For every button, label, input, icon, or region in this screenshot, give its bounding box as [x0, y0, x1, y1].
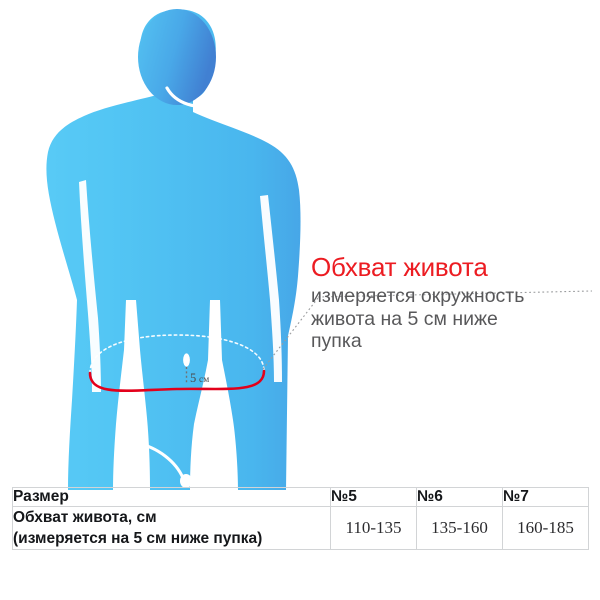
- header-cell-size-label: Размер: [13, 488, 331, 507]
- offset-unit: см: [199, 375, 209, 385]
- callout: Обхват живота измеряется окружность живо…: [311, 252, 595, 353]
- row-label-line-1: Обхват живота, см: [13, 507, 330, 528]
- callout-body-line-1: измеряется окружность: [311, 285, 595, 308]
- header-cell-size-2: №6: [417, 488, 503, 507]
- callout-body: измеряется окружность живота на 5 см ниж…: [311, 285, 595, 353]
- row-value-size-1: 110-135: [331, 507, 417, 550]
- callout-body-line-3: пупка: [311, 330, 595, 353]
- body-illustration: 5 см: [0, 0, 600, 490]
- callout-title: Обхват живота: [311, 252, 595, 282]
- size-chart-page: 5 см Обхват живота измеряется окружность…: [0, 0, 600, 600]
- header-cell-size-1: №5: [331, 488, 417, 507]
- table-header-row: Размер №5 №6 №7: [13, 488, 589, 507]
- row-value-size-3: 160-185: [503, 507, 589, 550]
- row-value-size-2: 135-160: [417, 507, 503, 550]
- header-cell-size-3: №7: [503, 488, 589, 507]
- callout-body-line-2: живота на 5 см ниже: [311, 308, 595, 331]
- row-label-line-2: (измеряется на 5 см ниже пупка): [13, 528, 330, 549]
- row-label-cell: Обхват живота, см (измеряется на 5 см ни…: [13, 507, 331, 550]
- offset-label: 5: [190, 371, 196, 385]
- size-table: Размер №5 №6 №7 Обхват живота, см (измер…: [12, 487, 589, 550]
- silhouette-head: [138, 9, 216, 105]
- navel-icon: [183, 353, 190, 366]
- table-row: Обхват живота, см (измеряется на 5 см ни…: [13, 507, 589, 550]
